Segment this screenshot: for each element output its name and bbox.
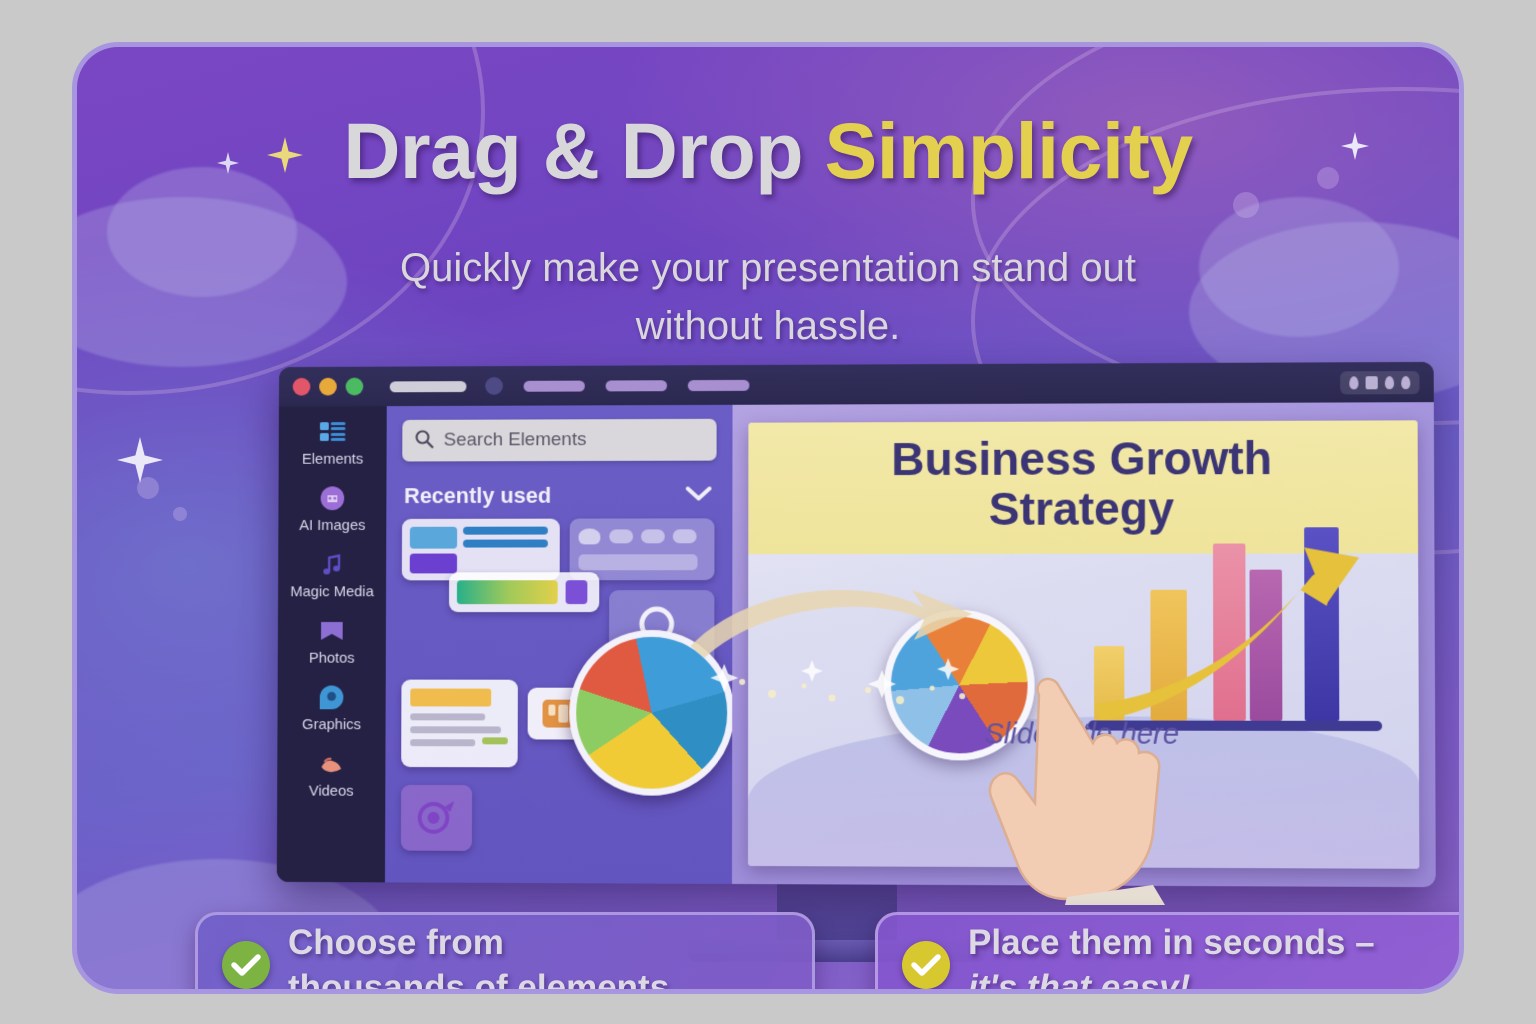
page-subtitle-line1: Quickly make your presentation stand out bbox=[77, 239, 1459, 297]
recently-used-header[interactable]: Recently used bbox=[404, 482, 714, 509]
elements-icon bbox=[317, 418, 348, 446]
maximize-button[interactable] bbox=[346, 378, 364, 396]
decor-dot-4 bbox=[173, 507, 187, 521]
panel-pie-thumbnail[interactable] bbox=[569, 630, 734, 796]
slide-title-line1: Business Growth bbox=[748, 432, 1417, 484]
shapes-icon[interactable] bbox=[1385, 376, 1394, 389]
sidebar-item-elements[interactable]: Elements bbox=[279, 418, 387, 468]
sidebar-item-label: Photos bbox=[309, 650, 355, 667]
graphics-icon bbox=[316, 683, 348, 711]
sidebar-item-videos[interactable]: Videos bbox=[277, 750, 385, 800]
videos-icon bbox=[316, 750, 348, 778]
callout-left: Choose from thousands of elements bbox=[195, 912, 815, 994]
magic-media-icon bbox=[316, 551, 348, 579]
check-circle-icon bbox=[222, 941, 270, 989]
more-icon[interactable] bbox=[1401, 376, 1410, 389]
text-card-thumbnail[interactable] bbox=[401, 680, 518, 768]
pointer-hand bbox=[947, 647, 1247, 907]
target-tile[interactable] bbox=[401, 785, 472, 851]
page-subtitle-line2: without hassle. bbox=[77, 297, 1459, 355]
page-title-part2: Simplicity bbox=[825, 106, 1193, 195]
callout-right-line2: it's that easy! bbox=[968, 965, 1375, 995]
left-sidebar: Elements AI Images bbox=[277, 406, 387, 882]
close-button[interactable] bbox=[293, 378, 311, 396]
callout-right: Place them in seconds – it's that easy! bbox=[875, 912, 1464, 994]
toolbar-avatar[interactable] bbox=[485, 377, 503, 395]
page-title: Drag & Drop Simplicity bbox=[77, 105, 1459, 197]
sidebar-item-graphics[interactable]: Graphics bbox=[277, 683, 385, 733]
chevron-down-icon[interactable] bbox=[683, 483, 715, 508]
sidebar-item-label: Graphics bbox=[302, 716, 361, 733]
sidebar-item-label: Elements bbox=[302, 451, 363, 468]
layout-card-thumbnail[interactable] bbox=[402, 519, 560, 581]
sidebar-item-photos[interactable]: Photos bbox=[278, 617, 386, 667]
sidebar-item-label: Magic Media bbox=[290, 583, 374, 600]
elements-panel: Search Elements Recently used bbox=[385, 405, 733, 884]
sidebar-item-label: AI Images bbox=[299, 517, 365, 534]
toolbar-pill-2[interactable] bbox=[524, 380, 585, 391]
sidebar-item-magic-media[interactable]: Magic Media bbox=[278, 551, 386, 601]
heart-icon bbox=[579, 528, 601, 544]
callout-left-text: Choose from thousands of elements bbox=[288, 920, 669, 995]
photos-icon bbox=[316, 617, 348, 645]
search-input[interactable]: Search Elements bbox=[402, 419, 716, 462]
callout-right-line1: Place them in seconds – bbox=[968, 920, 1375, 965]
toolbar-pill-3[interactable] bbox=[606, 380, 667, 391]
undo-icon[interactable] bbox=[1349, 376, 1358, 389]
image-icon[interactable] bbox=[1366, 376, 1378, 389]
page-title-part1: Drag & Drop bbox=[343, 106, 824, 195]
target-icon bbox=[415, 798, 459, 838]
poster-card: Drag & Drop Simplicity Quickly make your… bbox=[72, 42, 1464, 994]
page-subtitle: Quickly make your presentation stand out… bbox=[77, 239, 1459, 355]
titlebar-actions bbox=[1340, 370, 1419, 393]
callout-left-line2: thousands of elements bbox=[288, 965, 669, 995]
sparkle-star-4 bbox=[117, 437, 163, 483]
check-circle-icon bbox=[902, 941, 950, 989]
callout-left-line1: Choose from bbox=[288, 920, 669, 965]
toolbar-pill-4[interactable] bbox=[688, 379, 750, 390]
search-icon bbox=[414, 428, 434, 453]
window-titlebar bbox=[279, 362, 1434, 407]
search-placeholder: Search Elements bbox=[444, 429, 587, 451]
minimize-button[interactable] bbox=[319, 378, 337, 396]
slide-title[interactable]: Business Growth Strategy bbox=[748, 432, 1418, 534]
toolbar-pill-1[interactable] bbox=[390, 381, 467, 392]
section-title: Recently used bbox=[404, 483, 551, 509]
app-window: Elements AI Images bbox=[277, 362, 1436, 887]
callout-right-text: Place them in seconds – it's that easy! bbox=[968, 920, 1375, 995]
sidebar-item-label: Videos bbox=[309, 783, 354, 800]
gradient-bar-thumbnail[interactable] bbox=[449, 572, 599, 612]
sidebar-item-ai-images[interactable]: AI Images bbox=[278, 484, 386, 534]
ai-images-icon bbox=[317, 484, 348, 512]
reactions-card-thumbnail[interactable] bbox=[570, 518, 715, 580]
